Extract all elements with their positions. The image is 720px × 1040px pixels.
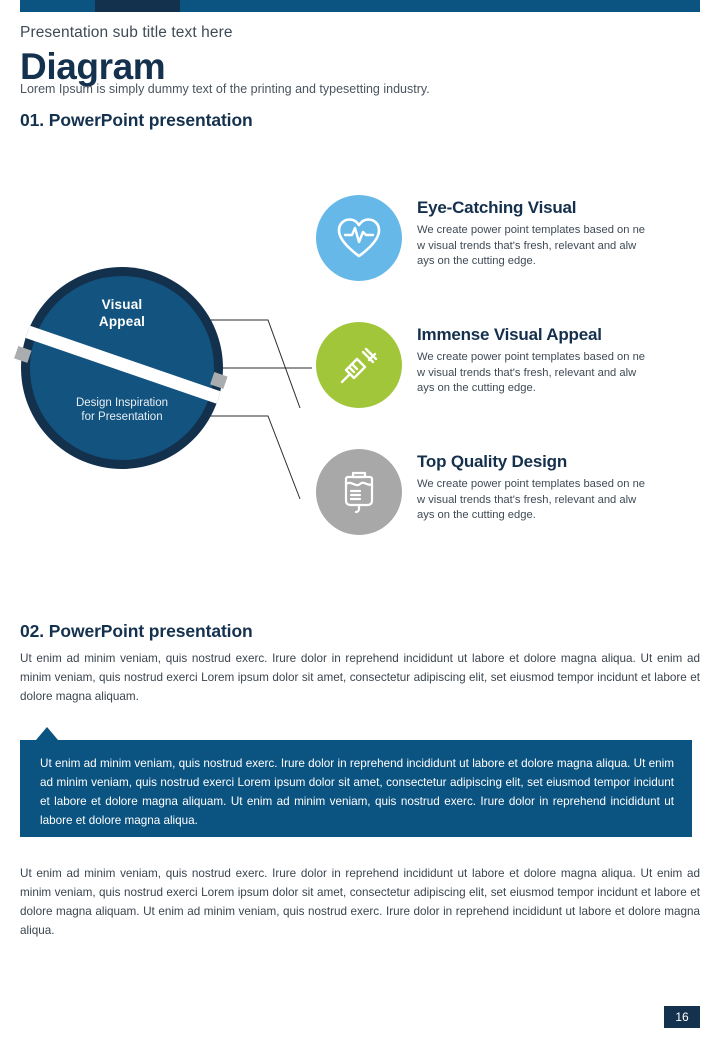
hub-primary-label-line1: Visual — [102, 297, 143, 312]
hub-secondary-label-line1: Design Inspiration — [76, 397, 168, 409]
top-bar-segment-right — [180, 0, 700, 12]
hub-primary-label-line2: Appeal — [99, 314, 145, 329]
item-icon-circle-2[interactable] — [316, 322, 402, 408]
item-title-1: Eye-Catching Visual — [417, 198, 707, 218]
item-text-block-3: Top Quality Design We create power point… — [417, 452, 707, 524]
item-description-2-line2: w visual trends that's fresh, relevant a… — [417, 367, 636, 379]
body-paragraph-3: Ut enim ad minim veniam, quis nostrud ex… — [20, 864, 700, 940]
callout-box: Ut enim ad minim veniam, quis nostrud ex… — [20, 740, 692, 837]
item-description-3: We create power point templates based on… — [417, 477, 707, 524]
connector-line-top — [210, 320, 300, 408]
top-accent-bar — [20, 0, 700, 12]
slide-canvas: Presentation sub title text here Diagram… — [0, 0, 720, 1040]
presentation-subtitle: Presentation sub title text here — [20, 24, 233, 42]
section-heading-01: 01. PowerPoint presentation — [20, 110, 253, 131]
body-paragraph-1: Ut enim ad minim veniam, quis nostrud ex… — [20, 649, 700, 706]
item-description-1-line3: ays on the cutting edge. — [417, 255, 536, 267]
item-description-1-line1: We create power point templates based on… — [417, 224, 645, 236]
item-description-3-line3: ays on the cutting edge. — [417, 509, 536, 521]
item-description-2-line3: ays on the cutting edge. — [417, 382, 536, 394]
hub-secondary-label-line2: for Presentation — [81, 411, 162, 423]
item-text-block-1: Eye-Catching Visual We create power poin… — [417, 198, 707, 270]
item-icon-circle-3[interactable] — [316, 449, 402, 535]
top-bar-segment-left — [20, 0, 95, 12]
callout-pointer — [36, 727, 58, 740]
item-description-2: We create power point templates based on… — [417, 350, 707, 397]
item-icon-circle-1[interactable] — [316, 195, 402, 281]
section-heading-02: 02. PowerPoint presentation — [20, 621, 253, 642]
item-description-3-line2: w visual trends that's fresh, relevant a… — [417, 494, 636, 506]
item-description-1: We create power point templates based on… — [417, 223, 707, 270]
page-number-badge: 16 — [664, 1006, 700, 1028]
hub-secondary-label: Design Inspiration for Presentation — [42, 396, 202, 424]
item-description-3-line1: We create power point templates based on… — [417, 478, 645, 490]
callout-text: Ut enim ad minim veniam, quis nostrud ex… — [40, 754, 674, 830]
heart-pulse-icon — [336, 217, 382, 259]
hub-primary-label: Visual Appeal — [52, 296, 192, 330]
diagram-area: Visual Appeal Design Inspiration for Pre… — [0, 170, 720, 570]
connector-line-bottom — [210, 416, 300, 499]
item-description-1-line2: w visual trends that's fresh, relevant a… — [417, 240, 636, 252]
page-tagline: Lorem Ipsum is simply dummy text of the … — [20, 82, 430, 96]
iv-drip-bag-icon — [339, 469, 379, 515]
item-text-block-2: Immense Visual Appeal We create power po… — [417, 325, 707, 397]
item-title-2: Immense Visual Appeal — [417, 325, 707, 345]
top-bar-segment-middle — [95, 0, 180, 12]
item-description-2-line1: We create power point templates based on… — [417, 351, 645, 363]
item-title-3: Top Quality Design — [417, 452, 707, 472]
syringe-icon — [337, 343, 381, 387]
